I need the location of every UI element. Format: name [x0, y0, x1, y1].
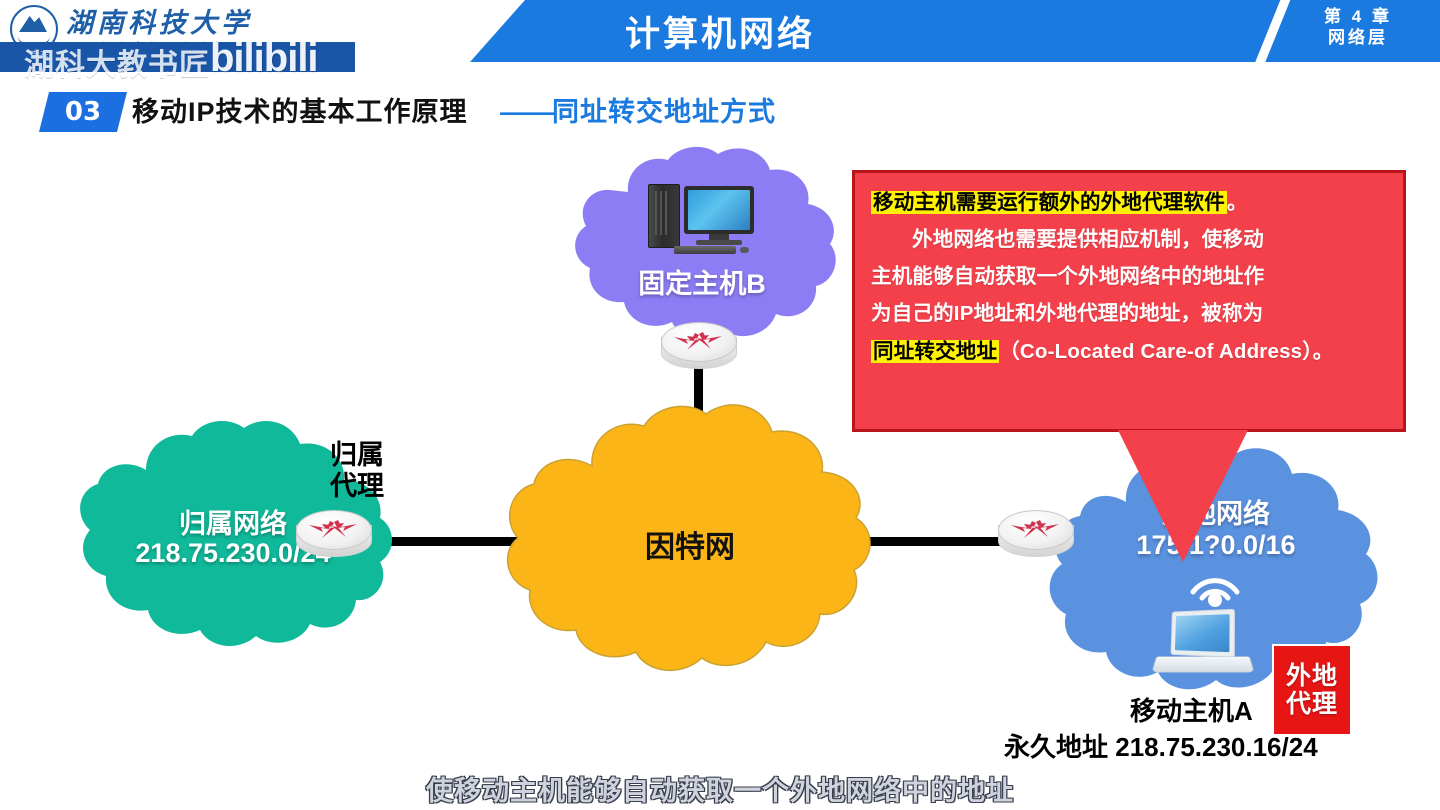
- callout-english-term: （Co-Located Care-of Address）: [999, 340, 1313, 363]
- callout-line-5-tail: 。: [1313, 340, 1334, 363]
- callout-line-4: 为自己的IP地址和外地代理的地址，被称为: [871, 298, 1387, 329]
- home-agent-label-line1: 归属: [330, 440, 384, 471]
- router-home-agent: [296, 510, 370, 568]
- callout-highlight-2: 同址转交地址: [871, 340, 999, 363]
- section-number-badge: 03: [39, 92, 127, 132]
- chapter-number: 第 4 章: [1298, 6, 1418, 27]
- callout-box: 移动主机需要运行额外的外地代理软件。 外地网络也需要提供相应机制，使移动 主机能…: [852, 170, 1406, 432]
- permanent-address-value: 218.75.230.16/24: [1115, 732, 1317, 762]
- foreign-agent-badge-line2: 代理: [1286, 690, 1338, 718]
- router-arrows-icon: [661, 322, 735, 360]
- permanent-address-row: 永久地址 218.75.230.16/24: [1004, 733, 1318, 763]
- header-divider-slash: [1252, 0, 1292, 62]
- callout-line-2: 外地网络也需要提供相应机制，使移动: [871, 224, 1387, 255]
- section-title: 移动IP技术的基本工作原理: [132, 90, 468, 134]
- laptop-keyboard-base: [1151, 656, 1254, 672]
- router-foreign-agent: [998, 510, 1072, 568]
- bilibili-watermark: bilibili: [210, 36, 318, 81]
- callout-line-3: 主机能够自动获取一个外地网络中的地址作: [871, 261, 1387, 292]
- section-subtitle: 同址转交地址方式: [552, 90, 776, 134]
- callout-highlight-1: 移动主机需要运行额外的外地代理软件: [871, 191, 1227, 214]
- router-arrows-icon: [998, 510, 1072, 548]
- subtitle-caption: 使移动主机能够自动获取一个外地网络中的地址: [0, 769, 1440, 808]
- watermark-small-text: 京东: [30, 48, 50, 61]
- laptop-screen: [1170, 609, 1235, 658]
- permanent-address-label: 永久地址: [1004, 732, 1108, 762]
- pc-tower-icon: [648, 184, 680, 248]
- watermark-channel-name: 湖科大教书匠: [24, 40, 210, 84]
- callout-pointer-arrow: [1118, 430, 1248, 562]
- wifi-signal-icon: [1184, 570, 1246, 614]
- pc-monitor-base: [696, 240, 742, 245]
- foreign-agent-badge: 外地 代理: [1272, 644, 1352, 736]
- pc-mouse-icon: [740, 247, 749, 253]
- slide-root: 计算机网络 第 4 章 网络层 湖南科技大学 Hunan University …: [0, 0, 1440, 810]
- pc-keyboard-icon: [674, 246, 736, 254]
- cloud-internet: 因特网: [504, 402, 876, 684]
- laptop-mobile-host-icon: [1154, 610, 1250, 684]
- callout-line-1-tail: 。: [1227, 191, 1248, 214]
- router-purple-network: [661, 322, 735, 380]
- callout-line-1: 移动主机需要运行额外的外地代理软件。: [871, 187, 1387, 218]
- callout-line-5: 同址转交地址（Co-Located Care-of Address）。: [871, 336, 1387, 367]
- router-arrows-icon: [296, 510, 370, 548]
- university-name-cn: 湖南科技大学: [66, 10, 252, 37]
- cloud-fixed-host-network: 固定主机B: [562, 146, 842, 346]
- mobile-host-label: 移动主机A: [1130, 697, 1253, 727]
- pc-monitor-icon: [684, 186, 754, 234]
- home-agent-label-line2: 代理: [330, 471, 384, 502]
- home-agent-label: 归属 代理: [330, 440, 384, 502]
- foreign-agent-badge-line1: 外地: [1286, 662, 1338, 690]
- chapter-badge: 第 4 章 网络层: [1298, 6, 1418, 49]
- chapter-name: 网络层: [1298, 27, 1418, 48]
- section-dash: ——: [500, 90, 554, 134]
- section-number: 03: [44, 92, 122, 132]
- desktop-computer-icon: [648, 184, 756, 258]
